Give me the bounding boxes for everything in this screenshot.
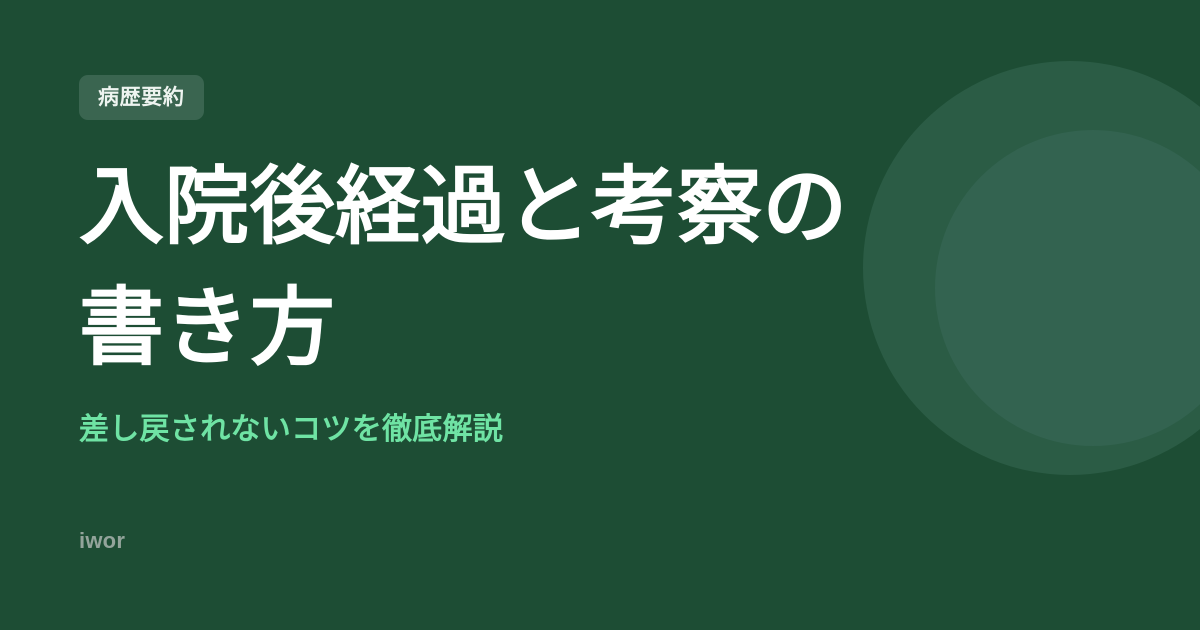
category-badge: 病歴要約 bbox=[79, 75, 204, 120]
page-title-line-1: 入院後経過と考察の bbox=[79, 148, 879, 269]
og-card: 病歴要約 入院後経過と考察の 書き方 差し戻されないコツを徹底解説 iwor bbox=[0, 0, 1200, 630]
site-name: iwor bbox=[79, 528, 125, 554]
page-title: 入院後経過と考察の 書き方 bbox=[79, 148, 879, 389]
category-badge-label: 病歴要約 bbox=[98, 87, 185, 108]
page-title-line-2: 書き方 bbox=[79, 269, 879, 390]
page-subtitle: 差し戻されないコツを徹底解説 bbox=[79, 409, 503, 451]
card-content: 病歴要約 入院後経過と考察の 書き方 差し戻されないコツを徹底解説 iwor bbox=[0, 0, 1200, 630]
